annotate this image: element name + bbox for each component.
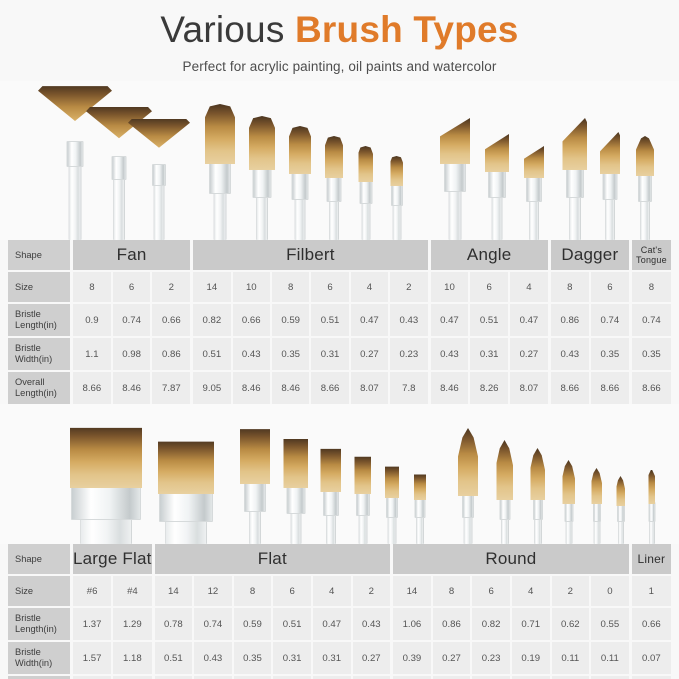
brush-ferrule (327, 176, 342, 202)
page-subtitle: Perfect for acrylic painting, oil paints… (0, 59, 679, 74)
brush-round-4 (562, 456, 575, 544)
brush-bristles (128, 118, 190, 166)
table-cell: 0.43 (431, 338, 469, 370)
table-cell: 0.47 (431, 304, 469, 336)
table-cell: 0.74 (113, 304, 151, 336)
brush-ferrule (67, 141, 84, 167)
brush-ferrule (292, 172, 309, 200)
table-cell: 8.66 (73, 372, 111, 404)
brush-ferrule (593, 502, 601, 522)
brush-ferrule (253, 168, 272, 198)
table-cell: 0.82 (472, 608, 510, 640)
table-cell: 4 (313, 576, 351, 606)
table-cell: 0.07 (632, 642, 671, 674)
brush-handle (165, 520, 207, 544)
brush-ferrule (638, 174, 652, 202)
table-row: Bristle Width(in)1.10.980.860.510.430.35… (8, 338, 671, 370)
column-group: 1.10.980.86 (73, 338, 190, 370)
table-cell: 0.59 (234, 608, 272, 640)
row-label: Bristle Width(in) (8, 338, 70, 370)
brush-ferrule (286, 486, 305, 514)
table-cell: 0.27 (351, 338, 388, 370)
brush-ferrule (566, 168, 584, 198)
brush-ferrule (323, 490, 339, 516)
table-cell: 0.66 (233, 304, 270, 336)
table-cell: 4 (512, 576, 550, 606)
table-cell: 14 (155, 576, 193, 606)
table-cell: 1.29 (113, 608, 151, 640)
table-cell: 6 (472, 576, 510, 606)
table-cell: 0.11 (591, 642, 629, 674)
table-cell: 0.23 (390, 338, 427, 370)
table-cell: 8.46 (233, 372, 270, 404)
brush-flat-2 (414, 470, 426, 544)
table-cell: 0.31 (313, 642, 351, 674)
brush-bristles (591, 468, 602, 504)
brush-filbert-4 (358, 142, 373, 240)
brush-handle (290, 512, 301, 544)
table-cell: 8.66 (311, 372, 348, 404)
brush-ferrule (499, 498, 510, 520)
brush-handle (464, 516, 473, 544)
brush-bristles (496, 440, 513, 500)
infographic-page: Various Brush Types Perfect for acrylic … (0, 0, 679, 679)
brush-large-flat-4 (158, 436, 214, 544)
brush-round-14 (458, 424, 478, 544)
table-cell: 0.47 (510, 304, 548, 336)
table-cell: 0.27 (510, 338, 548, 370)
shape-header-large-flat: Large Flat (73, 544, 152, 574)
table-cell: 8.66 (591, 372, 629, 404)
shape-header-flat: Flat (155, 544, 391, 574)
brush-handle (492, 196, 503, 240)
brush-handle (618, 520, 624, 544)
table-cell: 9.05 (193, 372, 230, 404)
table-cell: 0.55 (591, 608, 629, 640)
table-row: Overall Length(in)8.668.467.879.058.468.… (8, 372, 671, 404)
table-cell: 0.35 (272, 338, 309, 370)
table-cell: 8 (433, 576, 471, 606)
brush-ferrule (244, 482, 266, 512)
brush-fan-2 (128, 114, 190, 240)
column-group: Flat (155, 544, 391, 574)
table-row: ShapeFanFilbertAngleDaggerCat'sTongue (8, 240, 671, 270)
table-cell: 0.98 (113, 338, 151, 370)
column-group: 1486420 (393, 576, 629, 606)
column-group: #6#4 (73, 576, 152, 606)
brush-bristles (530, 448, 545, 500)
spec-table-lower: ShapeLarge FlatFlatRoundLinerSize#6#4141… (8, 544, 671, 679)
table-cell: 8 (551, 272, 589, 302)
table-cell: 4 (351, 272, 388, 302)
brush-handle (256, 196, 268, 240)
table-cell: 14 (393, 576, 431, 606)
brush-handle (295, 198, 306, 240)
brush-flat-6 (354, 452, 371, 544)
table-cell: 0.51 (470, 304, 508, 336)
brush-flat-8 (320, 444, 341, 544)
table-cell: 8.07 (351, 372, 388, 404)
brush-filbert-14 (205, 100, 235, 240)
brush-handle (358, 514, 367, 544)
table-cell: 0.39 (393, 642, 431, 674)
brush-angle-6 (485, 130, 509, 240)
brush-filbert-6 (325, 132, 343, 240)
table-cell: 0.51 (193, 338, 230, 370)
table-cell: 8.46 (113, 372, 151, 404)
title-accent: Brush Types (295, 9, 519, 50)
brush-ferrule (617, 504, 625, 522)
brush-bristles (385, 466, 399, 498)
table-cell: #4 (113, 576, 151, 606)
brush-ferrule (209, 162, 231, 194)
column-group: 8.468.268.07 (431, 372, 548, 404)
brush-ferrule (603, 172, 618, 200)
brush-angle-4 (524, 142, 544, 240)
table-cell: 0.27 (353, 642, 391, 674)
brush-handle (569, 196, 581, 240)
table-cell: 4 (510, 272, 548, 302)
table-cell: 0.43 (194, 642, 232, 674)
brush-bristles (616, 476, 625, 506)
table-cell: 0.35 (632, 338, 671, 370)
brush-handle (69, 165, 82, 240)
table-row: Bristle Width(in)1.571.180.510.430.350.3… (8, 642, 671, 674)
brush-handle (449, 190, 462, 240)
table-cell: 10 (233, 272, 270, 302)
brush-ferrule (391, 184, 403, 206)
brush-ferrule (648, 502, 655, 522)
brush-round-8 (496, 436, 513, 544)
table-cell: 0.51 (311, 304, 348, 336)
table-cell: 7.8 (390, 372, 427, 404)
spec-table-upper: ShapeFanFilbertAngleDaggerCat'sTongueSiz… (8, 240, 671, 404)
brush-artwork-upper (0, 81, 679, 240)
table-cell: 6 (113, 272, 151, 302)
brush-flat-12 (283, 434, 308, 544)
shape-header-angle: Angle (431, 240, 548, 270)
page-title: Various Brush Types (0, 8, 679, 52)
column-group: 0.430.310.27 (431, 338, 548, 370)
table-cell: 6 (591, 272, 629, 302)
column-group: Angle (431, 240, 548, 270)
brush-handle (534, 518, 542, 544)
brush-flat-4 (385, 462, 399, 544)
table-cell: 2 (353, 576, 391, 606)
row-label: Bristle Length(in) (8, 608, 70, 640)
table-cell: 10 (431, 272, 469, 302)
table-cell: 8.66 (551, 372, 589, 404)
brush-bristles (240, 428, 270, 484)
column-group: 1.060.860.820.710.620.55 (393, 608, 629, 640)
table-cell: 0.59 (272, 304, 309, 336)
column-group: Liner (632, 544, 671, 574)
shape-header-dagger: Dagger (551, 240, 629, 270)
brush-bristles (325, 136, 343, 178)
table-cell: 0.35 (234, 642, 272, 674)
table-cell: 1 (632, 576, 671, 606)
table-cell: 0.86 (433, 608, 471, 640)
table-cell: 0.27 (433, 642, 471, 674)
table-cell: 8.07 (510, 372, 548, 404)
table-cell: 0.86 (551, 304, 589, 336)
table-cell: 0.62 (552, 608, 590, 640)
table-cell: 0.74 (194, 608, 232, 640)
row-label: Overall Length(in) (8, 372, 70, 404)
table-cell: 0.82 (193, 304, 230, 336)
table-cell: 8.26 (470, 372, 508, 404)
table-cell: 1.57 (73, 642, 111, 674)
table-cell: 8 (234, 576, 272, 606)
brush-bristles (289, 126, 311, 174)
table-row: ShapeLarge FlatFlatRoundLiner (8, 544, 671, 574)
table-row: Bristle Length(in)0.90.740.660.820.660.5… (8, 304, 671, 336)
shape-header-filbert: Filbert (193, 240, 427, 270)
table-cell: 0.51 (155, 642, 193, 674)
column-group: 0.66 (632, 608, 671, 640)
table-cell: 0.43 (233, 338, 270, 370)
row-label: Bristle Length(in) (8, 304, 70, 336)
brush-bristles (205, 104, 235, 164)
brush-handle (593, 520, 600, 544)
brush-ferrule (152, 164, 166, 186)
table-cell: 2 (152, 272, 190, 302)
brush-ferrule (386, 496, 398, 518)
brush-bristles (158, 440, 214, 494)
table-cell: 0.86 (152, 338, 190, 370)
brush-ferrule (356, 492, 370, 516)
brush-bristles (636, 136, 654, 176)
table-cell: 6 (273, 576, 311, 606)
column-group: Round (393, 544, 629, 574)
table-cell: 1.18 (113, 642, 151, 674)
column-group: 0.470.510.47 (431, 304, 548, 336)
table-cell: 6 (470, 272, 508, 302)
column-group: 1064 (431, 272, 548, 302)
column-group: 14128642 (155, 576, 391, 606)
column-group: 0.510.430.350.310.270.23 (193, 338, 427, 370)
brush-handle (154, 184, 165, 240)
table-row: Size862141086421064868 (8, 272, 671, 302)
column-group: 8.668.66 (551, 372, 629, 404)
column-group: 0.820.660.590.510.470.43 (193, 304, 427, 336)
brush-filbert-10 (249, 112, 275, 240)
table-cell: 8 (632, 272, 671, 302)
brush-handle (249, 510, 261, 544)
brush-ferrule (359, 180, 372, 204)
table-cell: 7.87 (152, 372, 190, 404)
table-cell: 0.43 (551, 338, 589, 370)
column-group: 8.668.467.87 (73, 372, 190, 404)
brush-bristles (320, 448, 341, 492)
brush-round-0 (616, 472, 625, 544)
brush-handle (329, 200, 339, 240)
column-group: Fan (73, 240, 190, 270)
shape-header-line: Cat's (641, 245, 662, 256)
brush-ferrule (71, 486, 141, 520)
table-cell: 0.78 (155, 608, 193, 640)
table-cell: 8.46 (431, 372, 469, 404)
table-row: Bristle Length(in)1.371.290.780.740.590.… (8, 608, 671, 640)
table-cell: 0.43 (390, 304, 427, 336)
shape-header-round: Round (393, 544, 629, 574)
table-cell: 0.11 (552, 642, 590, 674)
shape-header-fan: Fan (73, 240, 190, 270)
brush-handle (605, 198, 615, 240)
table-cell: 0.74 (632, 304, 671, 336)
table-cell: 0.66 (152, 304, 190, 336)
table-cell: 0.43 (353, 608, 391, 640)
shape-header-line: Tongue (636, 255, 667, 266)
brush-bristles (562, 460, 575, 504)
brush-filbert-8 (289, 122, 311, 240)
title-plain: Various (160, 9, 295, 50)
table-cell: #6 (73, 576, 111, 606)
column-group: 0.07 (632, 642, 671, 674)
brush-large-flat-6 (70, 422, 142, 544)
brush-bristles (390, 156, 403, 186)
table-cell: 0 (591, 576, 629, 606)
shape-header-cat-s-tongue: Cat'sTongue (632, 240, 671, 270)
brush-ferrule (526, 176, 542, 202)
shape-header-liner: Liner (632, 544, 671, 574)
brush-handle (80, 518, 132, 544)
brush-bristles (600, 132, 620, 174)
brush-bristles (354, 456, 371, 494)
brush-filbert-2 (390, 152, 403, 240)
table-cell: 0.74 (591, 304, 629, 336)
column-group: 14108642 (193, 272, 427, 302)
table-cell: 14 (193, 272, 230, 302)
table-row: Size#6#41412864214864201 (8, 576, 671, 606)
column-group: Large Flat (73, 544, 152, 574)
column-group: 0.35 (632, 338, 671, 370)
table-cell: 2 (552, 576, 590, 606)
brush-handle (113, 178, 125, 240)
row-label: Size (8, 272, 70, 302)
brush-dagger-6 (600, 128, 620, 240)
column-group: 8.66 (632, 372, 671, 404)
header: Various Brush Types Perfect for acrylic … (0, 0, 679, 74)
brush-ferrule (533, 498, 543, 520)
brush-ferrule (462, 494, 474, 518)
brush-handle (214, 192, 227, 240)
table-cell: 8 (272, 272, 309, 302)
table-cell: 0.31 (273, 642, 311, 674)
row-label: Shape (8, 240, 70, 270)
brush-bristles (70, 426, 142, 488)
brush-angle-10 (440, 114, 470, 240)
brush-handle (501, 518, 509, 544)
table-cell: 0.47 (351, 304, 388, 336)
brush-bristles (249, 116, 275, 170)
column-group: 9.058.468.468.668.077.8 (193, 372, 427, 404)
column-group: Dagger (551, 240, 629, 270)
table-cell: 2 (390, 272, 427, 302)
brush-ferrule (564, 502, 573, 522)
brush-bristles (648, 470, 655, 504)
row-label: Bristle Width(in) (8, 642, 70, 674)
brush-handle (565, 520, 572, 544)
table-cell: 8 (73, 272, 111, 302)
column-group: 0.430.35 (551, 338, 629, 370)
table-cell: 0.35 (591, 338, 629, 370)
brush-ferrule (415, 498, 426, 518)
column-group: 0.90.740.66 (73, 304, 190, 336)
brush-bristles (358, 146, 373, 182)
brush-handle (416, 516, 424, 544)
table-cell: 0.66 (632, 608, 671, 640)
brush-handle (529, 200, 539, 240)
table-cell: 1.06 (393, 608, 431, 640)
table-cell: 8.46 (272, 372, 309, 404)
table-cell: 0.31 (470, 338, 508, 370)
table-cell: 0.23 (472, 642, 510, 674)
brush-bristles (524, 146, 544, 178)
column-group: Cat'sTongue (632, 240, 671, 270)
column-group: 1 (632, 576, 671, 606)
row-label: Size (8, 576, 70, 606)
table-cell: 0.19 (512, 642, 550, 674)
column-group: 1.371.29 (73, 608, 152, 640)
table-cell: 8.66 (632, 372, 671, 404)
column-group: 0.390.270.230.190.110.11 (393, 642, 629, 674)
table-cell: 0.31 (311, 338, 348, 370)
brush-ferrule (488, 170, 506, 198)
table-cell: 0.47 (313, 608, 351, 640)
brush-bristles (458, 428, 478, 496)
brush-bristles (440, 118, 470, 164)
table-cell: 6 (311, 272, 348, 302)
table-cell: 1.37 (73, 608, 111, 640)
brush-ferrule (159, 492, 213, 522)
table-cell: 12 (194, 576, 232, 606)
row-label: Shape (8, 544, 70, 574)
brush-cats-tongue-8 (636, 132, 654, 240)
brush-handle (388, 516, 397, 544)
brush-bristles (283, 438, 308, 488)
brush-bristles (485, 134, 509, 172)
brush-flat-14 (240, 424, 270, 544)
brush-bristles (562, 118, 587, 170)
brush-artwork-lower (0, 404, 679, 544)
brush-handle (649, 520, 655, 544)
brush-handle (392, 204, 401, 240)
column-group: 862 (73, 272, 190, 302)
column-group: 1.571.18 (73, 642, 152, 674)
table-cell: 1.1 (73, 338, 111, 370)
brush-round-6 (530, 444, 545, 544)
brush-round-2 (591, 464, 602, 544)
brush-handle (640, 200, 650, 240)
brush-dagger-8 (562, 114, 587, 240)
table-cell: 0.9 (73, 304, 111, 336)
column-group: 0.860.74 (551, 304, 629, 336)
column-group: 86 (551, 272, 629, 302)
table-cell: 0.51 (273, 608, 311, 640)
brush-ferrule (444, 162, 466, 192)
column-group: 0.510.430.350.310.310.27 (155, 642, 391, 674)
brush-handle (361, 202, 370, 240)
brush-liner-1 (648, 466, 655, 544)
brush-handle (326, 514, 336, 544)
column-group: Filbert (193, 240, 427, 270)
column-group: 8 (632, 272, 671, 302)
table-cell: 0.71 (512, 608, 550, 640)
column-group: 0.780.740.590.510.470.43 (155, 608, 391, 640)
brush-bristles (414, 474, 426, 500)
brush-ferrule (112, 156, 127, 180)
